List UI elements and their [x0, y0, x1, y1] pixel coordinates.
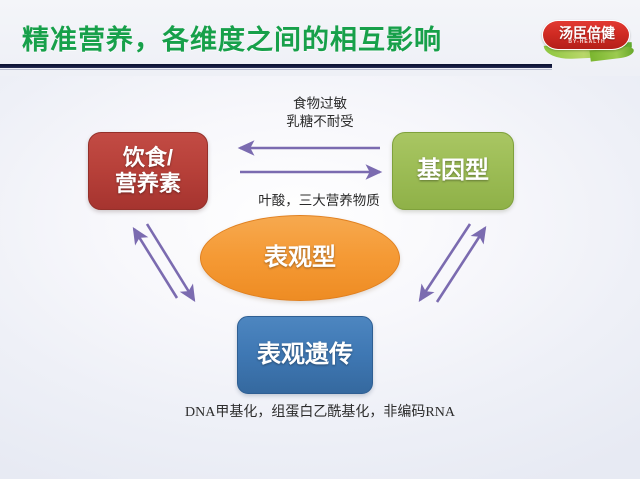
node-phenotype-label: 表观型 — [264, 244, 336, 272]
node-epigenetics-label: 表观遗传 — [257, 341, 353, 369]
node-diet[interactable]: 饮食/ 营养素 — [88, 132, 208, 210]
title-divider-hairline — [0, 69, 552, 70]
caption-top: 食物过敏 乳糖不耐受 — [230, 95, 410, 131]
node-diet-line1: 饮食/ — [115, 145, 181, 171]
title-divider — [0, 64, 552, 68]
page-title: 精准营养，各维度之间的相互影响 — [22, 18, 442, 57]
node-epigenetics[interactable]: 表观遗传 — [237, 316, 373, 394]
caption-bottom: DNA甲基化，组蛋白乙酰基化，非编码RNA — [100, 401, 540, 421]
logo-badge: 汤臣倍健 BY-HEALTH — [542, 20, 630, 50]
relationship-diagram: 食物过敏 乳糖不耐受 叶酸，三大营养物质 饮食/ 营养素 基因型 表观型 表观遗… — [0, 76, 640, 479]
node-diet-line2: 营养素 — [115, 171, 181, 197]
node-phenotype[interactable]: 表观型 — [200, 215, 400, 301]
caption-top-line2: 乳糖不耐受 — [230, 113, 410, 131]
brand-logo: 汤臣倍健 BY-HEALTH — [540, 18, 634, 62]
node-genotype[interactable]: 基因型 — [392, 132, 514, 210]
node-genotype-label: 基因型 — [417, 157, 489, 185]
caption-top-line1: 食物过敏 — [230, 95, 410, 113]
slide-header: 精准营养，各维度之间的相互影响 汤臣倍健 BY-HEALTH — [0, 0, 640, 76]
logo-english-text: BY-HEALTH — [543, 39, 631, 45]
